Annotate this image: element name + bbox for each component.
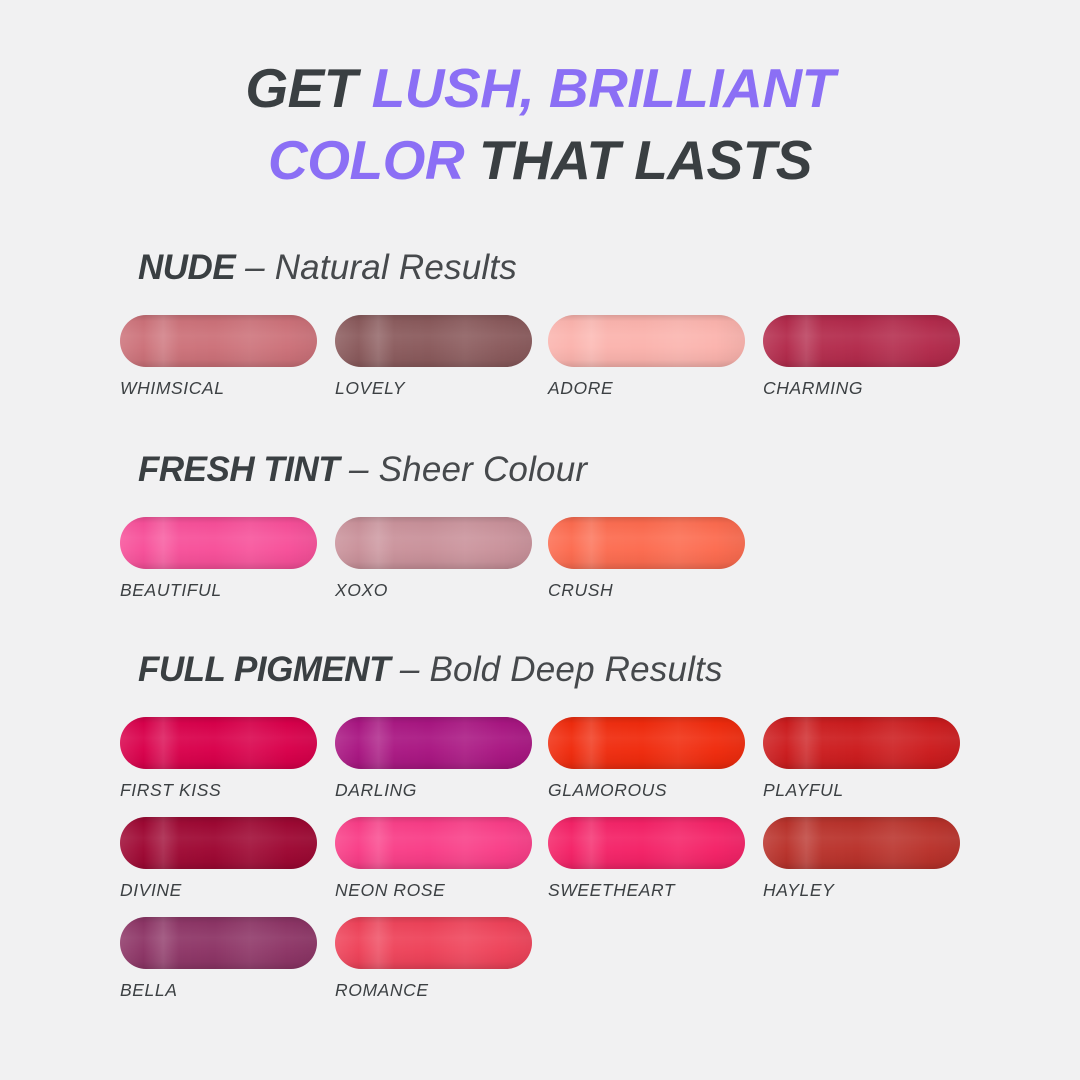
section-full-pigment: FULL PIGMENT – Bold Deep ResultsFIRST KI… [0, 648, 1080, 1017]
section-fresh-tint: FRESH TINT – Sheer ColourBEAUTIFULXOXOCR… [0, 448, 1080, 617]
swatch-label-neon-rose: NEON ROSE [335, 880, 532, 900]
color-swatch-neon-rose[interactable] [335, 817, 532, 869]
swatch-label-playful: PLAYFUL [763, 780, 960, 800]
color-swatch-xoxo[interactable] [335, 517, 532, 569]
swatch-cell-hayley[interactable]: HAYLEY [763, 817, 960, 900]
swatch-cell-divine[interactable]: DIVINE [120, 817, 317, 900]
color-swatch-romance[interactable] [335, 917, 532, 969]
color-swatch-adore[interactable] [548, 315, 745, 367]
color-swatch-crush[interactable] [548, 517, 745, 569]
swatch-label-glamorous: GLAMOROUS [548, 780, 745, 800]
headline-run-1-0: COLOR [268, 129, 479, 191]
swatch-label-adore: ADORE [548, 378, 745, 398]
swatch-label-first-kiss: FIRST KISS [120, 780, 317, 800]
swatch-label-lovely: LOVELY [335, 378, 532, 398]
color-swatch-beautiful[interactable] [120, 517, 317, 569]
swatch-row: FIRST KISSDARLINGGLAMOROUSPLAYFUL [0, 717, 1080, 817]
swatch-cell-adore[interactable]: ADORE [548, 315, 745, 398]
section-descriptor-nude: – Natural Results [235, 248, 517, 287]
section-descriptor-fresh-tint: – Sheer Colour [339, 450, 587, 489]
swatch-label-charming: CHARMING [763, 378, 960, 398]
section-category-nude: NUDE [138, 248, 235, 287]
headline-run-0-1: LUSH, BRILLIANT [372, 57, 835, 119]
color-swatch-playful[interactable] [763, 717, 960, 769]
swatch-label-xoxo: XOXO [335, 580, 532, 600]
color-swatch-lovely[interactable] [335, 315, 532, 367]
section-nude: NUDE – Natural ResultsWHIMSICALLOVELYADO… [0, 246, 1080, 415]
swatch-cell-whimsical[interactable]: WHIMSICAL [120, 315, 317, 398]
headline-run-0-0: GET [245, 57, 371, 119]
swatch-label-crush: CRUSH [548, 580, 745, 600]
swatch-cell-neon-rose[interactable]: NEON ROSE [335, 817, 532, 900]
swatch-cell-romance[interactable]: ROMANCE [335, 917, 532, 1000]
swatch-label-romance: ROMANCE [335, 980, 532, 1000]
swatch-cell-xoxo[interactable]: XOXO [335, 517, 532, 600]
swatch-row: DIVINENEON ROSESWEETHEARTHAYLEY [0, 817, 1080, 917]
color-swatch-first-kiss[interactable] [120, 717, 317, 769]
color-swatch-glamorous[interactable] [548, 717, 745, 769]
color-swatch-bella[interactable] [120, 917, 317, 969]
swatch-label-hayley: HAYLEY [763, 880, 960, 900]
swatch-label-sweetheart: SWEETHEART [548, 880, 745, 900]
swatch-cell-lovely[interactable]: LOVELY [335, 315, 532, 398]
swatch-cell-charming[interactable]: CHARMING [763, 315, 960, 398]
section-heading-nude: NUDE – Natural Results [138, 246, 1080, 290]
color-swatch-charming[interactable] [763, 315, 960, 367]
swatch-label-bella: BELLA [120, 980, 317, 1000]
swatch-row: BELLAROMANCE [0, 917, 1080, 1017]
swatch-cell-playful[interactable]: PLAYFUL [763, 717, 960, 800]
swatch-cell-crush[interactable]: CRUSH [548, 517, 745, 600]
swatch-label-beautiful: BEAUTIFUL [120, 580, 317, 600]
color-swatch-hayley[interactable] [763, 817, 960, 869]
swatch-cell-glamorous[interactable]: GLAMOROUS [548, 717, 745, 800]
swatch-cell-bella[interactable]: BELLA [120, 917, 317, 1000]
swatch-cell-beautiful[interactable]: BEAUTIFUL [120, 517, 317, 600]
swatch-label-darling: DARLING [335, 780, 532, 800]
swatch-cell-sweetheart[interactable]: SWEETHEART [548, 817, 745, 900]
section-heading-fresh-tint: FRESH TINT – Sheer Colour [138, 448, 1080, 492]
color-swatch-sweetheart[interactable] [548, 817, 745, 869]
section-category-full-pigment: FULL PIGMENT [138, 650, 390, 689]
section-descriptor-full-pigment: – Bold Deep Results [390, 650, 723, 689]
section-heading-full-pigment: FULL PIGMENT – Bold Deep Results [138, 648, 1080, 692]
swatch-grid-fresh-tint: BEAUTIFULXOXOCRUSH [0, 517, 1080, 617]
color-swatch-divine[interactable] [120, 817, 317, 869]
color-swatch-whimsical[interactable] [120, 315, 317, 367]
headline-line-1: COLOR THAT LASTS [0, 124, 1080, 196]
swatch-label-whimsical: WHIMSICAL [120, 378, 317, 398]
swatch-cell-darling[interactable]: DARLING [335, 717, 532, 800]
swatch-grid-nude: WHIMSICALLOVELYADORECHARMING [0, 315, 1080, 415]
page-headline: GET LUSH, BRILLIANTCOLOR THAT LASTS [0, 52, 1080, 196]
headline-run-1-1: THAT LASTS [479, 129, 812, 191]
swatch-row: WHIMSICALLOVELYADORECHARMING [0, 315, 1080, 415]
swatch-label-divine: DIVINE [120, 880, 317, 900]
section-category-fresh-tint: FRESH TINT [138, 450, 339, 489]
color-swatch-darling[interactable] [335, 717, 532, 769]
swatch-row: BEAUTIFULXOXOCRUSH [0, 517, 1080, 617]
headline-line-0: GET LUSH, BRILLIANT [0, 52, 1080, 124]
swatch-grid-full-pigment: FIRST KISSDARLINGGLAMOROUSPLAYFULDIVINEN… [0, 717, 1080, 1017]
swatch-cell-first-kiss[interactable]: FIRST KISS [120, 717, 317, 800]
